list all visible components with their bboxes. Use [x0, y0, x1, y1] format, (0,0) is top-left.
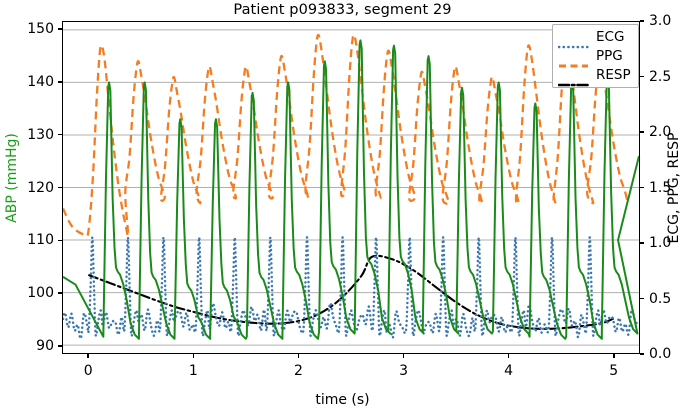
y-axis-left-tick-label: 130 [27, 127, 54, 143]
y-axis-left-tick-label: 110 [27, 232, 54, 248]
y-axis-right-tick [640, 298, 644, 300]
y-axis-right-tick-label: 1.0 [649, 235, 671, 251]
x-axis-tick [508, 354, 510, 358]
legend-item-ppg: PPG [558, 48, 631, 64]
y-axis-left-tick-label: 90 [36, 338, 54, 354]
legend-swatch-ecg [558, 35, 589, 39]
x-axis-tick [613, 354, 615, 358]
x-axis-tick [403, 354, 405, 358]
legend-label-resp: RESP [596, 67, 631, 83]
y-axis-right-tick-label: 2.0 [649, 124, 671, 140]
x-axis-tick-label: 3 [399, 363, 408, 379]
y-axis-right-tick [640, 187, 644, 189]
x-axis-tick [193, 354, 195, 358]
x-axis-tick-label: 1 [189, 363, 198, 379]
y-axis-right-tick-label: 0.0 [649, 346, 671, 362]
legend-item-resp: RESP [558, 67, 631, 83]
y-axis-right-tick [640, 76, 644, 78]
legend-swatch-ppg [558, 54, 589, 58]
y-axis-left-title: ABP (mmHg) [4, 133, 20, 223]
y-axis-left-tick-label: 100 [27, 285, 54, 301]
chart-title: Patient p093833, segment 29 [0, 2, 685, 18]
legend-label-ecg: ECG [596, 29, 624, 45]
legend-item-ecg: ECG [558, 29, 631, 45]
legend-swatch-resp [558, 73, 589, 77]
x-axis-tick-label: 2 [294, 363, 303, 379]
y-axis-right-tick-label: 0.5 [649, 291, 671, 307]
y-axis-right-tick-label: 2.5 [649, 69, 671, 85]
y-axis-left-tick-label: 150 [27, 21, 54, 37]
legend-label-ppg: PPG [596, 48, 623, 64]
legend: ECG PPG RESP [552, 24, 639, 88]
y-axis-left-tick-label: 120 [27, 180, 54, 196]
y-axis-right-tick [640, 20, 644, 22]
y-axis-left-tick-label: 140 [27, 74, 54, 90]
x-axis-title: time (s) [0, 392, 685, 408]
x-axis-tick-label: 0 [84, 363, 93, 379]
y-axis-right-tick-label: 1.5 [649, 180, 671, 196]
x-axis-tick [298, 354, 300, 358]
y-axis-right-tick [640, 131, 644, 133]
figure: Patient p093833, segment 29 ABP (mmHg) E… [0, 0, 685, 415]
y-axis-right-tick-label: 3.0 [649, 13, 671, 29]
x-axis-tick-label: 5 [609, 363, 618, 379]
y-axis-right-tick [640, 353, 644, 355]
x-axis-tick-label: 4 [504, 363, 513, 379]
x-axis-tick [87, 354, 89, 358]
y-axis-right-tick [640, 242, 644, 244]
